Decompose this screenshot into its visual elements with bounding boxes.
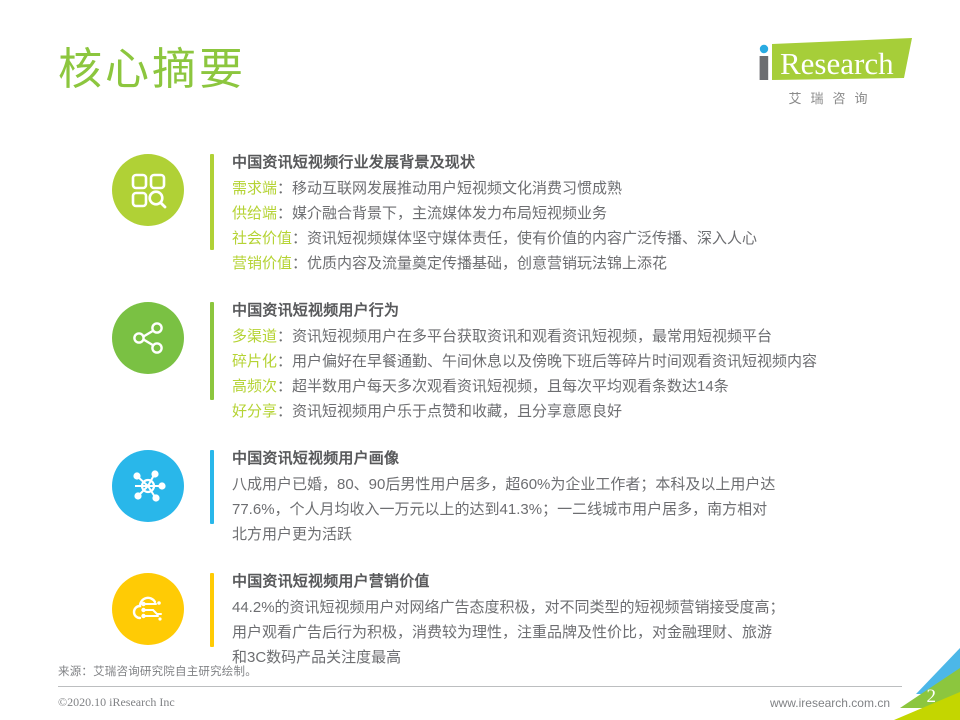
section-paragraph-line: 44.2%的资讯短视频用户对网络广告态度积极，对不同类型的短视频营销接受度高；: [232, 595, 960, 620]
section-paragraph-line: 八成用户已婚，80、90后男性用户居多，超60%为企业工作者；本科及以上用户达: [232, 472, 960, 497]
line-label: 社会价值: [232, 230, 292, 247]
section-text: 中国资讯短视频用户行为 多渠道：资讯短视频用户在多平台获取资讯和观看资讯短视频，…: [214, 298, 960, 424]
section-title: 中国资讯短视频用户营销价值: [232, 569, 960, 595]
line-text: ：资讯短视频用户在多平台获取资讯和观看资讯短视频，最常用短视频平台: [277, 328, 772, 345]
section-paragraph-line: 用户观看广告后行为积极，消费较为理性，注重品牌及性价比，对金融理财、旅游: [232, 620, 960, 645]
section-title: 中国资讯短视频行业发展背景及现状: [232, 150, 960, 176]
section-line: 碎片化：用户偏好在早餐通勤、午间休息以及傍晚下班后等碎片时间观看资讯短视频内容: [232, 349, 960, 374]
iresearch-logo: Research 艾瑞咨询: [744, 38, 912, 107]
line-text: ：用户偏好在早餐通勤、午间休息以及傍晚下班后等碎片时间观看资讯短视频内容: [277, 353, 817, 370]
network-hub-icon: [112, 450, 184, 522]
section-line: 高频次：超半数用户每天多次观看资讯短视频，且每次平均观看条数达14条: [232, 374, 960, 399]
line-label: 好分享: [232, 403, 277, 420]
section-line: 好分享：资讯短视频用户乐于点赞和收藏，且分享意愿良好: [232, 399, 960, 424]
page-title: 核心摘要: [58, 44, 246, 97]
line-text: ：资讯短视频用户乐于点赞和收藏，且分享意愿良好: [277, 403, 622, 420]
line-text: ：优质内容及流量奠定传播基础，创意营销玩法锦上添花: [292, 255, 667, 272]
line-text: ：移动互联网发展推动用户短视频文化消费习惯成熟: [277, 180, 622, 197]
share-nodes-icon: [112, 302, 184, 374]
line-label: 营销价值: [232, 255, 292, 272]
summary-sections: 中国资讯短视频行业发展背景及现状 需求端：移动互联网发展推动用户短视频文化消费习…: [0, 150, 960, 692]
section-user-behavior: 中国资讯短视频用户行为 多渠道：资讯短视频用户在多平台获取资讯和观看资讯短视频，…: [0, 298, 960, 424]
source-note: 来源：艾瑞咨询研究院自主研究绘制。: [58, 663, 257, 679]
line-text: ：媒介融合背景下，主流媒体发力布局短视频业务: [277, 205, 607, 222]
line-label: 碎片化: [232, 353, 277, 370]
section-title: 中国资讯短视频用户画像: [232, 446, 960, 472]
line-label: 供给端: [232, 205, 277, 222]
line-text: ：资讯短视频媒体坚守媒体责任，使有价值的内容广泛传播、深入人心: [292, 230, 757, 247]
section-industry-background: 中国资讯短视频行业发展背景及现状 需求端：移动互联网发展推动用户短视频文化消费习…: [0, 150, 960, 276]
section-user-profile: 中国资讯短视频用户画像 八成用户已婚，80、90后男性用户居多，超60%为企业工…: [0, 446, 960, 547]
website-url[interactable]: www.iresearch.com.cn: [770, 696, 890, 710]
section-paragraph-line: 北方用户更为活跃: [232, 522, 960, 547]
section-line: 供给端：媒介融合背景下，主流媒体发力布局短视频业务: [232, 201, 960, 226]
logo-subtitle: 艾瑞咨询: [744, 88, 912, 107]
section-paragraph-line: 77.6%，个人月均收入一万元以上的达到41.3%；一二线城市用户居多，南方相对: [232, 497, 960, 522]
section-title: 中国资讯短视频用户行为: [232, 298, 960, 324]
section-text: 中国资讯短视频用户营销价值 44.2%的资讯短视频用户对网络广告态度积极，对不同…: [214, 569, 960, 670]
page-number: 2: [927, 686, 937, 708]
section-line: 需求端：移动互联网发展推动用户短视频文化消费习惯成熟: [232, 176, 960, 201]
footer-divider: [58, 686, 902, 687]
grid-search-icon: [112, 154, 184, 226]
section-line: 多渠道：资讯短视频用户在多平台获取资讯和观看资讯短视频，最常用短视频平台: [232, 324, 960, 349]
slide-root: 核心摘要 Research 艾瑞咨询: [0, 0, 960, 720]
line-label: 多渠道: [232, 328, 277, 345]
section-text: 中国资讯短视频行业发展背景及现状 需求端：移动互联网发展推动用户短视频文化消费习…: [214, 150, 960, 276]
copyright-text: ©2020.10 iResearch Inc: [58, 695, 175, 710]
section-text: 中国资讯短视频用户画像 八成用户已婚，80、90后男性用户居多，超60%为企业工…: [214, 446, 960, 547]
section-line: 营销价值：优质内容及流量奠定传播基础，创意营销玩法锦上添花: [232, 251, 960, 276]
cloud-circuit-icon: [112, 573, 184, 645]
section-line: 社会价值：资讯短视频媒体坚守媒体责任，使有价值的内容广泛传播、深入人心: [232, 226, 960, 251]
line-text: ：超半数用户每天多次观看资讯短视频，且每次平均观看条数达14条: [277, 378, 729, 395]
logo-mark: Research: [744, 38, 912, 84]
line-label: 需求端: [232, 180, 277, 197]
section-marketing-value: 中国资讯短视频用户营销价值 44.2%的资讯短视频用户对网络广告态度积极，对不同…: [0, 569, 960, 670]
line-label: 高频次: [232, 378, 277, 395]
corner-decoration: [880, 648, 960, 720]
svg-text:Research: Research: [780, 46, 894, 81]
section-paragraph-line: 和3C数码产品关注度最高: [232, 645, 960, 670]
